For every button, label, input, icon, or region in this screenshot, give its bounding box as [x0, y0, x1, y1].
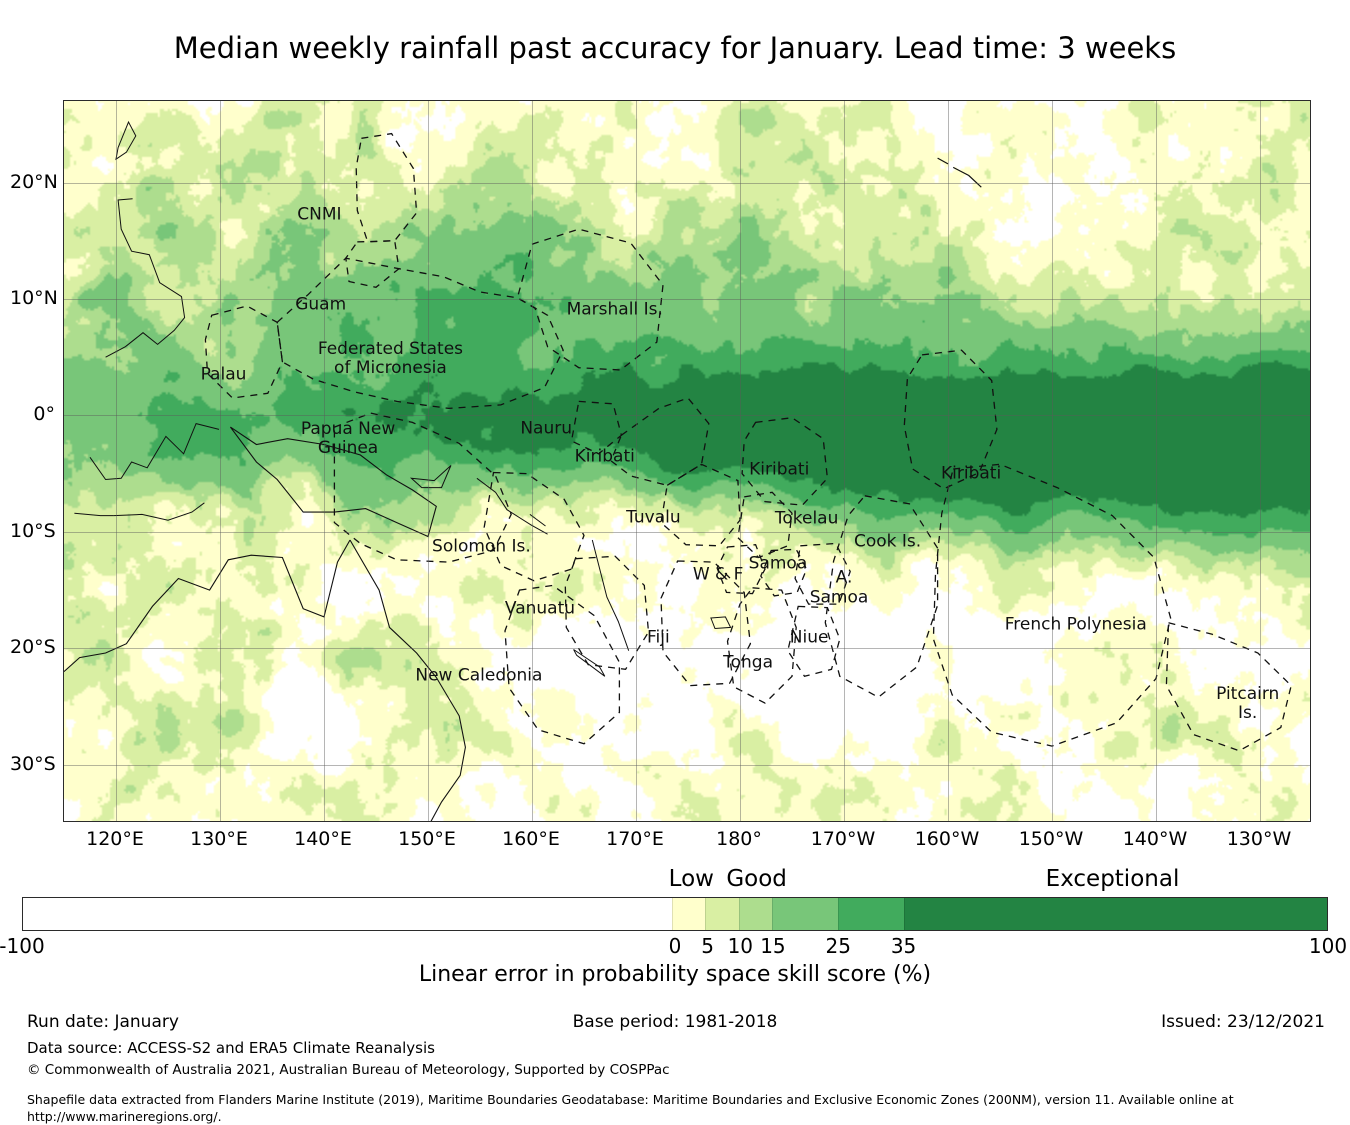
colorbar-swatch [672, 898, 705, 930]
colorbar-tick-label: 15 [760, 934, 785, 958]
x-tick-label: 170°E [606, 828, 664, 850]
y-tick-label: 20°S [10, 636, 55, 658]
colorbar-tick-label: 5 [701, 934, 714, 958]
colorbar-swatch [838, 898, 904, 930]
page-title: Median weekly rainfall past accuracy for… [0, 30, 1350, 66]
skill-score-heatmap [64, 101, 1310, 821]
y-tick-label: 10°S [10, 520, 55, 542]
x-tick-label: 130°E [190, 828, 248, 850]
x-tick-label: 180° [716, 828, 762, 850]
colorbar-swatch [705, 898, 738, 930]
y-tick-label: 0° [10, 403, 55, 425]
colorbar-swatch [23, 898, 672, 930]
colorbar-swatch [739, 898, 772, 930]
run-date-text: Run date: January [27, 1012, 179, 1032]
x-tick-label: 170°W [811, 828, 876, 850]
x-tick-label: 160°E [502, 828, 560, 850]
colorbar-tick-label: 100 [1309, 934, 1347, 958]
base-period-text: Base period: 1981-2018 [573, 1012, 778, 1032]
colorbar-tick-label: -100 [0, 934, 45, 958]
x-tick-label: 130°W [1227, 828, 1292, 850]
y-tick-label: 10°N [10, 287, 55, 309]
x-tick-label: 160°W [915, 828, 980, 850]
colorbar-tick-label: 25 [826, 934, 851, 958]
y-tick-label: 30°S [10, 753, 55, 775]
colorbar-swatch [904, 898, 1327, 930]
x-tick-label: 120°E [86, 828, 144, 850]
x-tick-label: 150°W [1019, 828, 1084, 850]
colorbar-swatch [772, 898, 838, 930]
footer: Run date: January Base period: 1981-2018… [0, 1012, 1350, 1125]
footer-top-row: Run date: January Base period: 1981-2018… [0, 1012, 1350, 1034]
map-plot-area: CNMIGuamMarshall Is.Federated States of … [63, 100, 1311, 822]
shapefile-credit-line-1: Shapefile data extracted from Flanders M… [27, 1092, 1234, 1107]
colorbar-axis-label: Linear error in probability space skill … [0, 962, 1350, 987]
colorbar-tick-label: 35 [891, 934, 916, 958]
copyright-text: © Commonwealth of Australia 2021, Austra… [27, 1062, 670, 1078]
issued-date-text: Issued: 23/12/2021 [1161, 1012, 1325, 1032]
x-tick-label: 140°E [294, 828, 352, 850]
colorbar-category-label: Exceptional [1046, 866, 1180, 892]
shapefile-credit-line-2: http://www.marineregions.org/. [27, 1109, 222, 1124]
colorbar-category-label: Low [669, 866, 714, 892]
colorbar [22, 897, 1328, 931]
y-tick-label: 20°N [10, 171, 55, 193]
x-tick-label: 150°E [398, 828, 456, 850]
colorbar-tick-label: 0 [669, 934, 682, 958]
x-tick-label: 140°W [1123, 828, 1188, 850]
colorbar-tick-label: 10 [728, 934, 753, 958]
colorbar-category-label: Good [726, 866, 787, 892]
data-source-text: Data source: ACCESS-S2 and ERA5 Climate … [27, 1039, 435, 1057]
